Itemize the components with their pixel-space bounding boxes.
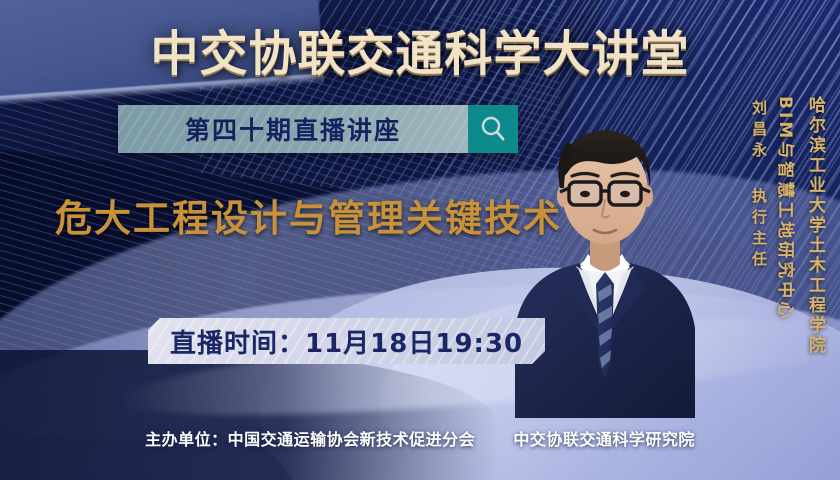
live-lecture-poster: 中交协联交通科学大讲堂 第四十期直播讲座 危大工程设计与管理关键技术 直播时间：… — [0, 0, 840, 480]
subtitle-label: 第四十期直播讲座 — [118, 105, 468, 153]
page-title: 中交协联交通科学大讲堂 — [0, 14, 840, 84]
footer-co-organizer: 中交协联交通科学研究院 — [513, 430, 695, 449]
headline: 危大工程设计与管理关键技术 — [55, 188, 562, 242]
live-time-badge: 直播时间：11月18日19:30 — [148, 318, 545, 364]
footer: 主办单位：中国交通运输协会新技术促进分会 中交协联交通科学研究院 — [0, 426, 840, 450]
speaker-organization: 哈尔滨工业大学土木工程学院 — [803, 96, 828, 356]
search-icon[interactable] — [468, 105, 518, 153]
speaker-role: 执行主任 — [749, 188, 770, 272]
speaker-name: 刘昌永 — [749, 100, 770, 163]
subtitle-bar: 第四十期直播讲座 — [118, 105, 518, 153]
speaker-center: BIM与智慧工地研究中心 — [775, 96, 800, 321]
speaker-portrait — [510, 88, 700, 418]
footer-organizer: 主办单位：中国交通运输协会新技术促进分会 — [145, 430, 475, 449]
